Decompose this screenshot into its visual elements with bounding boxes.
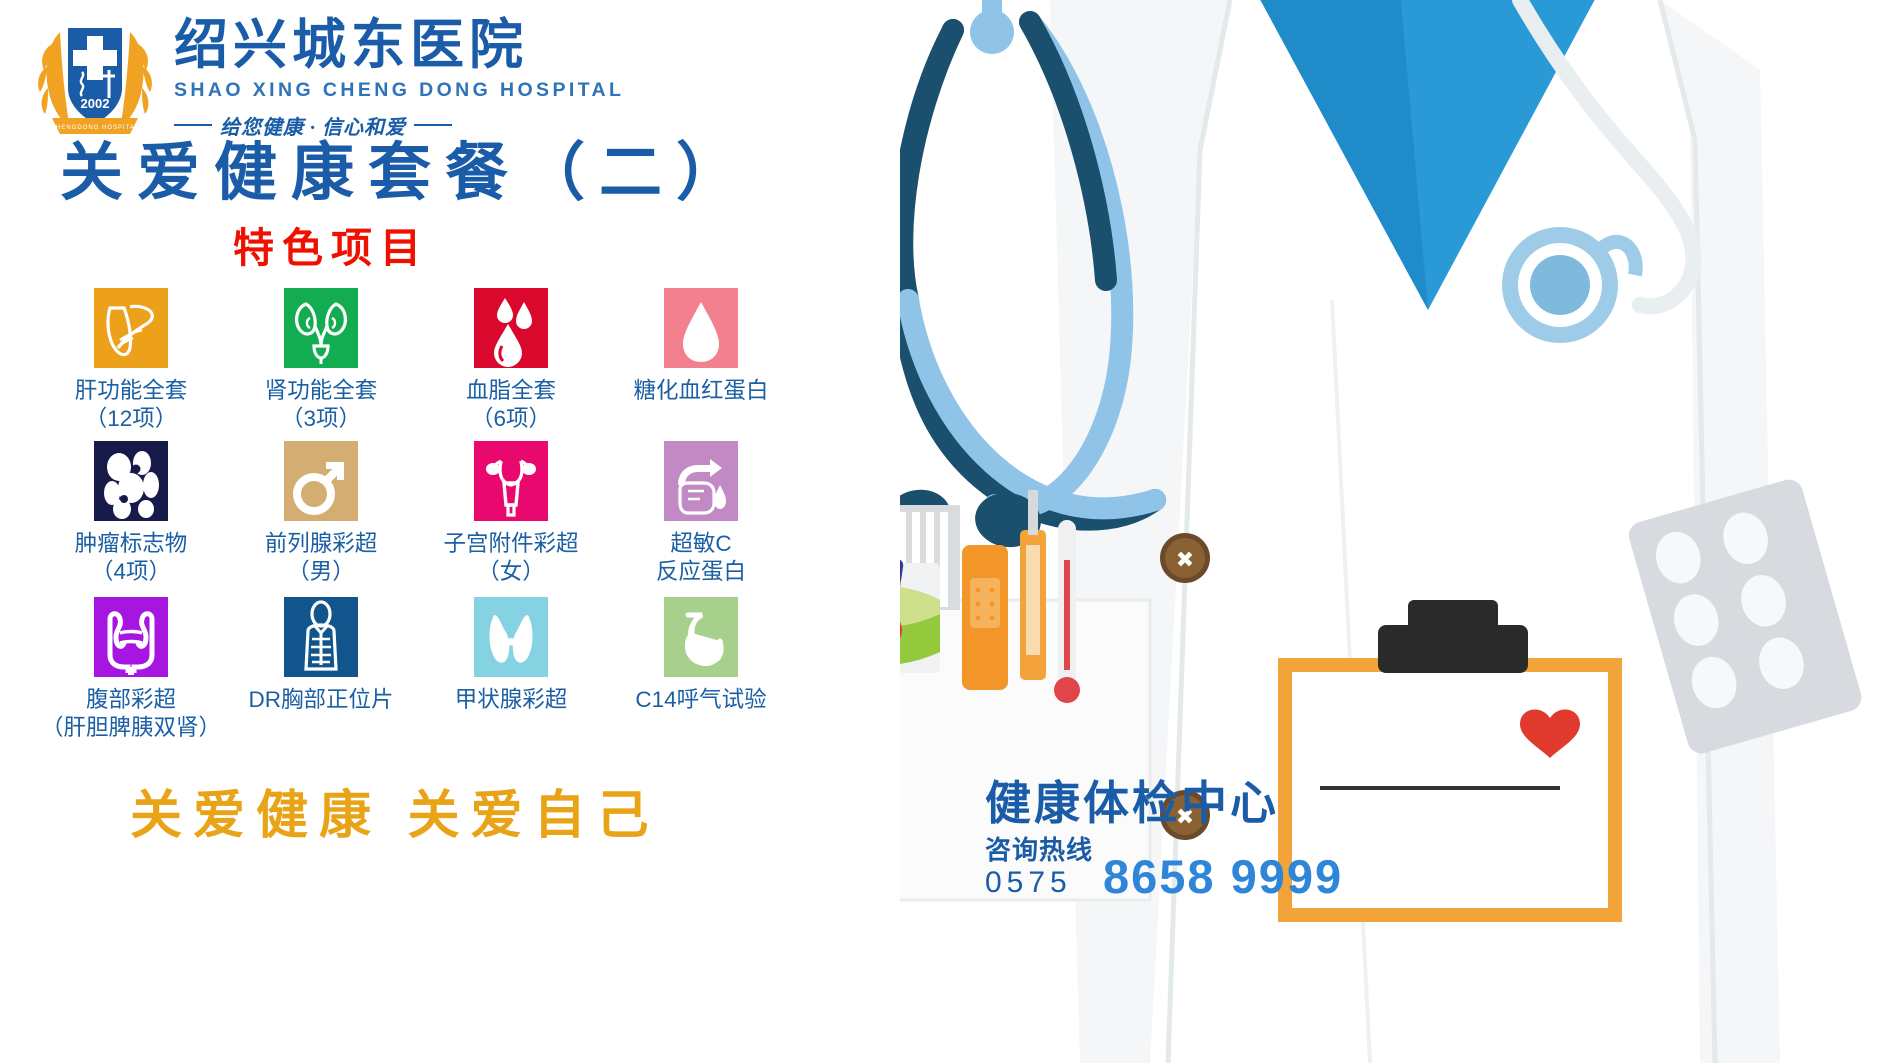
page-subtitle: 特色项目 [233,228,429,269]
checkup-center-title: 健康体检中心 [985,780,1343,826]
items-row-2: 肿瘤标志物 （4项） 前列腺彩超 （男） [36,441,796,586]
hotline-label: 咨询热线 [985,836,1093,866]
item-label: 肿瘤标志物 （4项） [75,530,188,586]
item-label: 甲状腺彩超 [455,686,568,714]
item-label: 前列腺彩超 （男） [265,530,378,586]
slogan-rule-left [174,124,212,126]
kidneys-icon [284,288,358,368]
item-uterus-ultrasound[interactable]: 子宫附件彩超 （女） [416,441,606,586]
item-label: C14呼气试验 [635,686,766,714]
item-prostate-ultrasound[interactable]: 前列腺彩超 （男） [226,441,416,586]
items-row-3: 腹部彩超 （肝胆脾胰双肾） [36,597,796,742]
bottom-slogan: 关爱健康 关爱自己 [130,790,659,842]
item-label: 血脂全套 （6项） [466,377,556,433]
hotline-number: 8658 9999 [1103,853,1343,900]
item-kidney-function[interactable]: 肾功能全套 （3项） [226,288,416,433]
hospital-slogan-row: 给您健康 · 信心和爱 [174,111,499,140]
item-hba1c[interactable]: 糖化血红蛋白 [606,288,796,405]
item-tumor-markers[interactable]: 肿瘤标志物 （4项） [36,441,226,586]
blood-drops-icon [474,288,548,368]
hand-blood-test-icon [664,441,738,521]
item-label: 超敏C 反应蛋白 [656,530,746,586]
liver-icon [94,288,168,368]
hospital-name-cn: 绍兴城东医院 [174,18,624,72]
hospital-slogan: 给您健康 · 信心和爱 [220,111,406,140]
item-label: 肝功能全套 （12项） [75,377,188,433]
thyroid-icon [474,597,548,677]
health-checkup-poster: ✖ ✖ [0,0,1890,1063]
item-c14-breath-test[interactable]: C14呼气试验 [606,597,796,714]
hospital-name-en: SHAO XING CHENG DONG HOSPITAL [174,81,624,101]
item-label: 糖化血红蛋白 [633,377,768,405]
hospital-logo: 2002 CHENGDONG HOSPITAL 绍兴城东医院 SHAO XING… [30,10,624,140]
blood-drop-icon [664,288,738,368]
item-label: 子宫附件彩超 （女） [443,530,578,586]
item-label: DR胸部正位片 [249,686,394,714]
tumor-cells-icon [94,441,168,521]
item-label: 肾功能全套 （3项） [265,377,378,433]
item-label: 腹部彩超 （肝胆脾胰双肾） [41,686,221,742]
medical-illustration: ✖ ✖ [900,0,1890,1063]
item-chest-xray[interactable]: DR胸部正位片 [226,597,416,714]
hospital-crest-icon: 2002 CHENGDONG HOSPITAL [30,10,160,138]
crest-year: 2002 [81,96,110,111]
item-hscrp[interactable]: 超敏C 反应蛋白 [606,441,796,586]
uterus-icon [474,441,548,521]
item-thyroid-ultrasound[interactable]: 甲状腺彩超 [416,597,606,714]
items-row-1: 肝功能全套 （12项） 肾功能全套 （3项） [36,288,796,433]
crest-ribbon-text: CHENGDONG HOSPITAL [51,125,140,131]
illustration-panel: ✖ ✖ [900,0,1890,1063]
svg-text:✖: ✖ [1176,547,1194,572]
intestine-icon [94,597,168,677]
stomach-icon [664,597,738,677]
hotline-row: 咨询热线 0575 8658 9999 [985,836,1343,900]
item-abdominal-ultrasound[interactable]: 腹部彩超 （肝胆脾胰双肾） [36,597,226,742]
chest-xray-icon [284,597,358,677]
item-blood-lipids[interactable]: 血脂全套 （6项） [416,288,606,433]
slogan-rule-right [414,124,452,126]
hotline-area-code: 0575 [985,866,1093,901]
checkup-center-contact: 健康体检中心 咨询热线 0575 8658 9999 [985,780,1343,900]
item-liver-function[interactable]: 肝功能全套 （12项） [36,288,226,433]
page-title: 关爱健康套餐（二） [60,142,753,205]
checkup-items-grid: 肝功能全套 （12项） 肾功能全套 （3项） [36,288,796,748]
male-symbol-icon [284,441,358,521]
content-panel: 2002 CHENGDONG HOSPITAL 绍兴城东医院 SHAO XING… [0,0,930,1063]
